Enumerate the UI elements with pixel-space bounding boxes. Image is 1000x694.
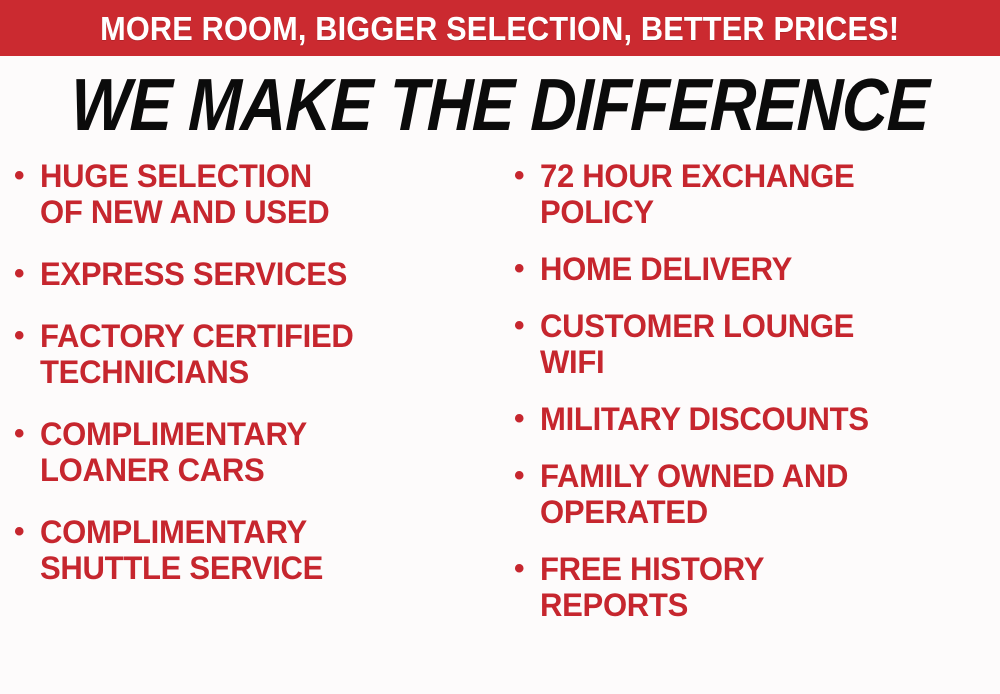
bullet-dot-icon: • [514, 251, 540, 287]
benefits-columns: • HUGE SELECTION OF NEW AND USED • EXPRE… [0, 158, 1000, 694]
list-item: • MILITARY DISCOUNTS [514, 401, 1000, 437]
list-item-label: COMPLIMENTARY SHUTTLE SERVICE [40, 514, 486, 586]
top-banner: MORE ROOM, BIGGER SELECTION, BETTER PRIC… [0, 0, 1000, 56]
list-item-label: COMPLIMENTARY LOANER CARS [40, 416, 486, 488]
benefits-column-left: • HUGE SELECTION OF NEW AND USED • EXPRE… [14, 158, 500, 694]
bullet-dot-icon: • [514, 158, 540, 194]
list-item-label: FACTORY CERTIFIED TECHNICIANS [40, 318, 486, 390]
bullet-dot-icon: • [14, 318, 40, 354]
list-item: • 72 HOUR EXCHANGE POLICY [514, 158, 1000, 230]
list-item: • HUGE SELECTION OF NEW AND USED [14, 158, 500, 230]
bullet-dot-icon: • [14, 158, 40, 194]
bullet-dot-icon: • [14, 256, 40, 292]
bullet-dot-icon: • [514, 401, 540, 437]
list-item-label: CUSTOMER LOUNGE WIFI [540, 308, 986, 380]
list-item: • COMPLIMENTARY LOANER CARS [14, 416, 500, 488]
list-item: • FAMILY OWNED AND OPERATED [514, 458, 1000, 530]
list-item-label: HOME DELIVERY [540, 251, 986, 287]
list-item-label: EXPRESS SERVICES [40, 256, 486, 292]
bullet-dot-icon: • [514, 551, 540, 587]
main-headline-text: WE MAKE THE DIFFERENCE [70, 68, 930, 142]
list-item: • FACTORY CERTIFIED TECHNICIANS [14, 318, 500, 390]
list-item: • CUSTOMER LOUNGE WIFI [514, 308, 1000, 380]
main-headline: WE MAKE THE DIFFERENCE [0, 68, 1000, 142]
list-item-label: FAMILY OWNED AND OPERATED [540, 458, 986, 530]
bullet-dot-icon: • [514, 308, 540, 344]
bullet-dot-icon: • [514, 458, 540, 494]
list-item-label: 72 HOUR EXCHANGE POLICY [540, 158, 986, 230]
list-item-label: HUGE SELECTION OF NEW AND USED [40, 158, 486, 230]
list-item-label: FREE HISTORY REPORTS [540, 551, 986, 623]
banner-divider [0, 56, 1000, 59]
bullet-dot-icon: • [14, 416, 40, 452]
list-item: • COMPLIMENTARY SHUTTLE SERVICE [14, 514, 500, 586]
banner-headline-text: MORE ROOM, BIGGER SELECTION, BETTER PRIC… [100, 12, 899, 45]
list-item: • HOME DELIVERY [514, 251, 1000, 287]
bullet-dot-icon: • [14, 514, 40, 550]
list-item-label: MILITARY DISCOUNTS [540, 401, 986, 437]
list-item: • EXPRESS SERVICES [14, 256, 500, 292]
list-item: • FREE HISTORY REPORTS [514, 551, 1000, 623]
benefits-column-right: • 72 HOUR EXCHANGE POLICY • HOME DELIVER… [514, 158, 1000, 694]
promotional-poster: MORE ROOM, BIGGER SELECTION, BETTER PRIC… [0, 0, 1000, 694]
